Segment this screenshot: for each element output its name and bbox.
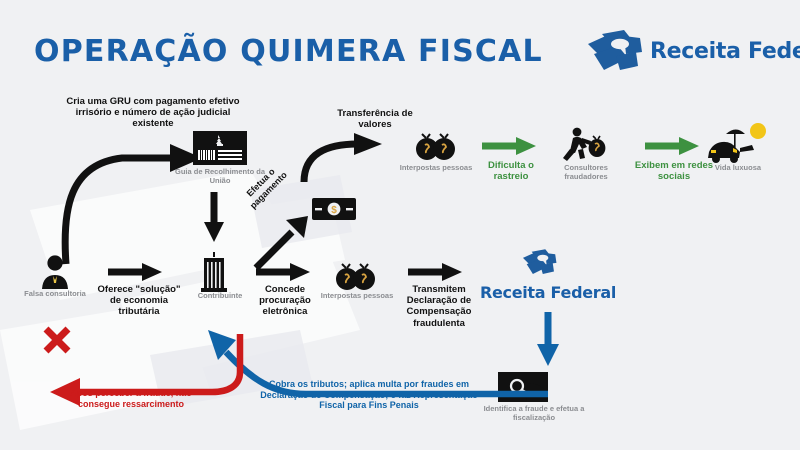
arrow-green-exibem bbox=[645, 136, 701, 156]
interpostas-pessoas-top-icon bbox=[414, 128, 458, 162]
step-apos-perceber: Após perceber a fraude, não consegue res… bbox=[66, 388, 196, 409]
svg-text:$: $ bbox=[331, 205, 337, 216]
money-note-icon: $ bbox=[312, 196, 356, 222]
arrow-transferencia bbox=[296, 132, 406, 186]
step-transmitem: Transmitem Declaração de Compensação fra… bbox=[398, 284, 480, 329]
receita-federal-logo-header: Receita Federal bbox=[580, 28, 780, 78]
logo-text-flow: Receita Federal bbox=[480, 283, 616, 302]
receita-federal-logo-flow: Receita Federal bbox=[488, 248, 608, 306]
label-interpostas-top: Interpostas pessoas bbox=[390, 164, 482, 173]
label-contribuinte: Contribuinte bbox=[186, 292, 254, 301]
red-x-icon bbox=[42, 325, 72, 355]
infographic-canvas: OPERAÇÃO QUIMERA FISCAL Receita Federal … bbox=[0, 0, 800, 450]
label-fiscalizacao: Identifica a fraude e efetua a fiscaliza… bbox=[478, 405, 590, 423]
page-title: OPERAÇÃO QUIMERA FISCAL bbox=[34, 34, 543, 69]
label-consultores: Consultores fraudadores bbox=[545, 164, 627, 182]
vida-luxuosa-icon bbox=[706, 122, 768, 164]
gru-document-icon bbox=[193, 131, 247, 165]
logo-text-header: Receita Federal bbox=[650, 39, 800, 64]
interpostas-pessoas-mid-icon bbox=[334, 258, 378, 292]
step-cria-gru: Cria uma GRU com pagamento efetivo irris… bbox=[58, 96, 248, 130]
step-cobra: Cobra os tributos; aplica multa por frau… bbox=[255, 379, 483, 411]
arrow-gru-down-to-contribuinte bbox=[202, 192, 226, 244]
label-interpostas-mid: Interpostas pessoas bbox=[312, 292, 402, 301]
receita-federal-emblem-icon-flow bbox=[523, 249, 556, 274]
receita-federal-emblem-icon bbox=[588, 30, 642, 70]
label-falsa-consultoria: Falsa consultoria bbox=[22, 290, 88, 299]
arrow-oferece-solucao bbox=[108, 262, 164, 282]
consultores-fraudadores-icon bbox=[560, 126, 606, 162]
contribuinte-icon bbox=[200, 252, 228, 292]
arrow-green-dificulta bbox=[482, 136, 538, 156]
label-vida-luxuosa: Vida luxuosa bbox=[700, 164, 776, 173]
step-oferece-solucao: Oferece "solução" de economia tributária bbox=[93, 284, 185, 318]
arrow-concede-procuracao bbox=[256, 262, 312, 282]
arrow-transmitem bbox=[408, 262, 464, 282]
falsa-consultoria-icon bbox=[40, 255, 70, 289]
step-dificulta: Dificulta o rastreio bbox=[473, 160, 549, 182]
